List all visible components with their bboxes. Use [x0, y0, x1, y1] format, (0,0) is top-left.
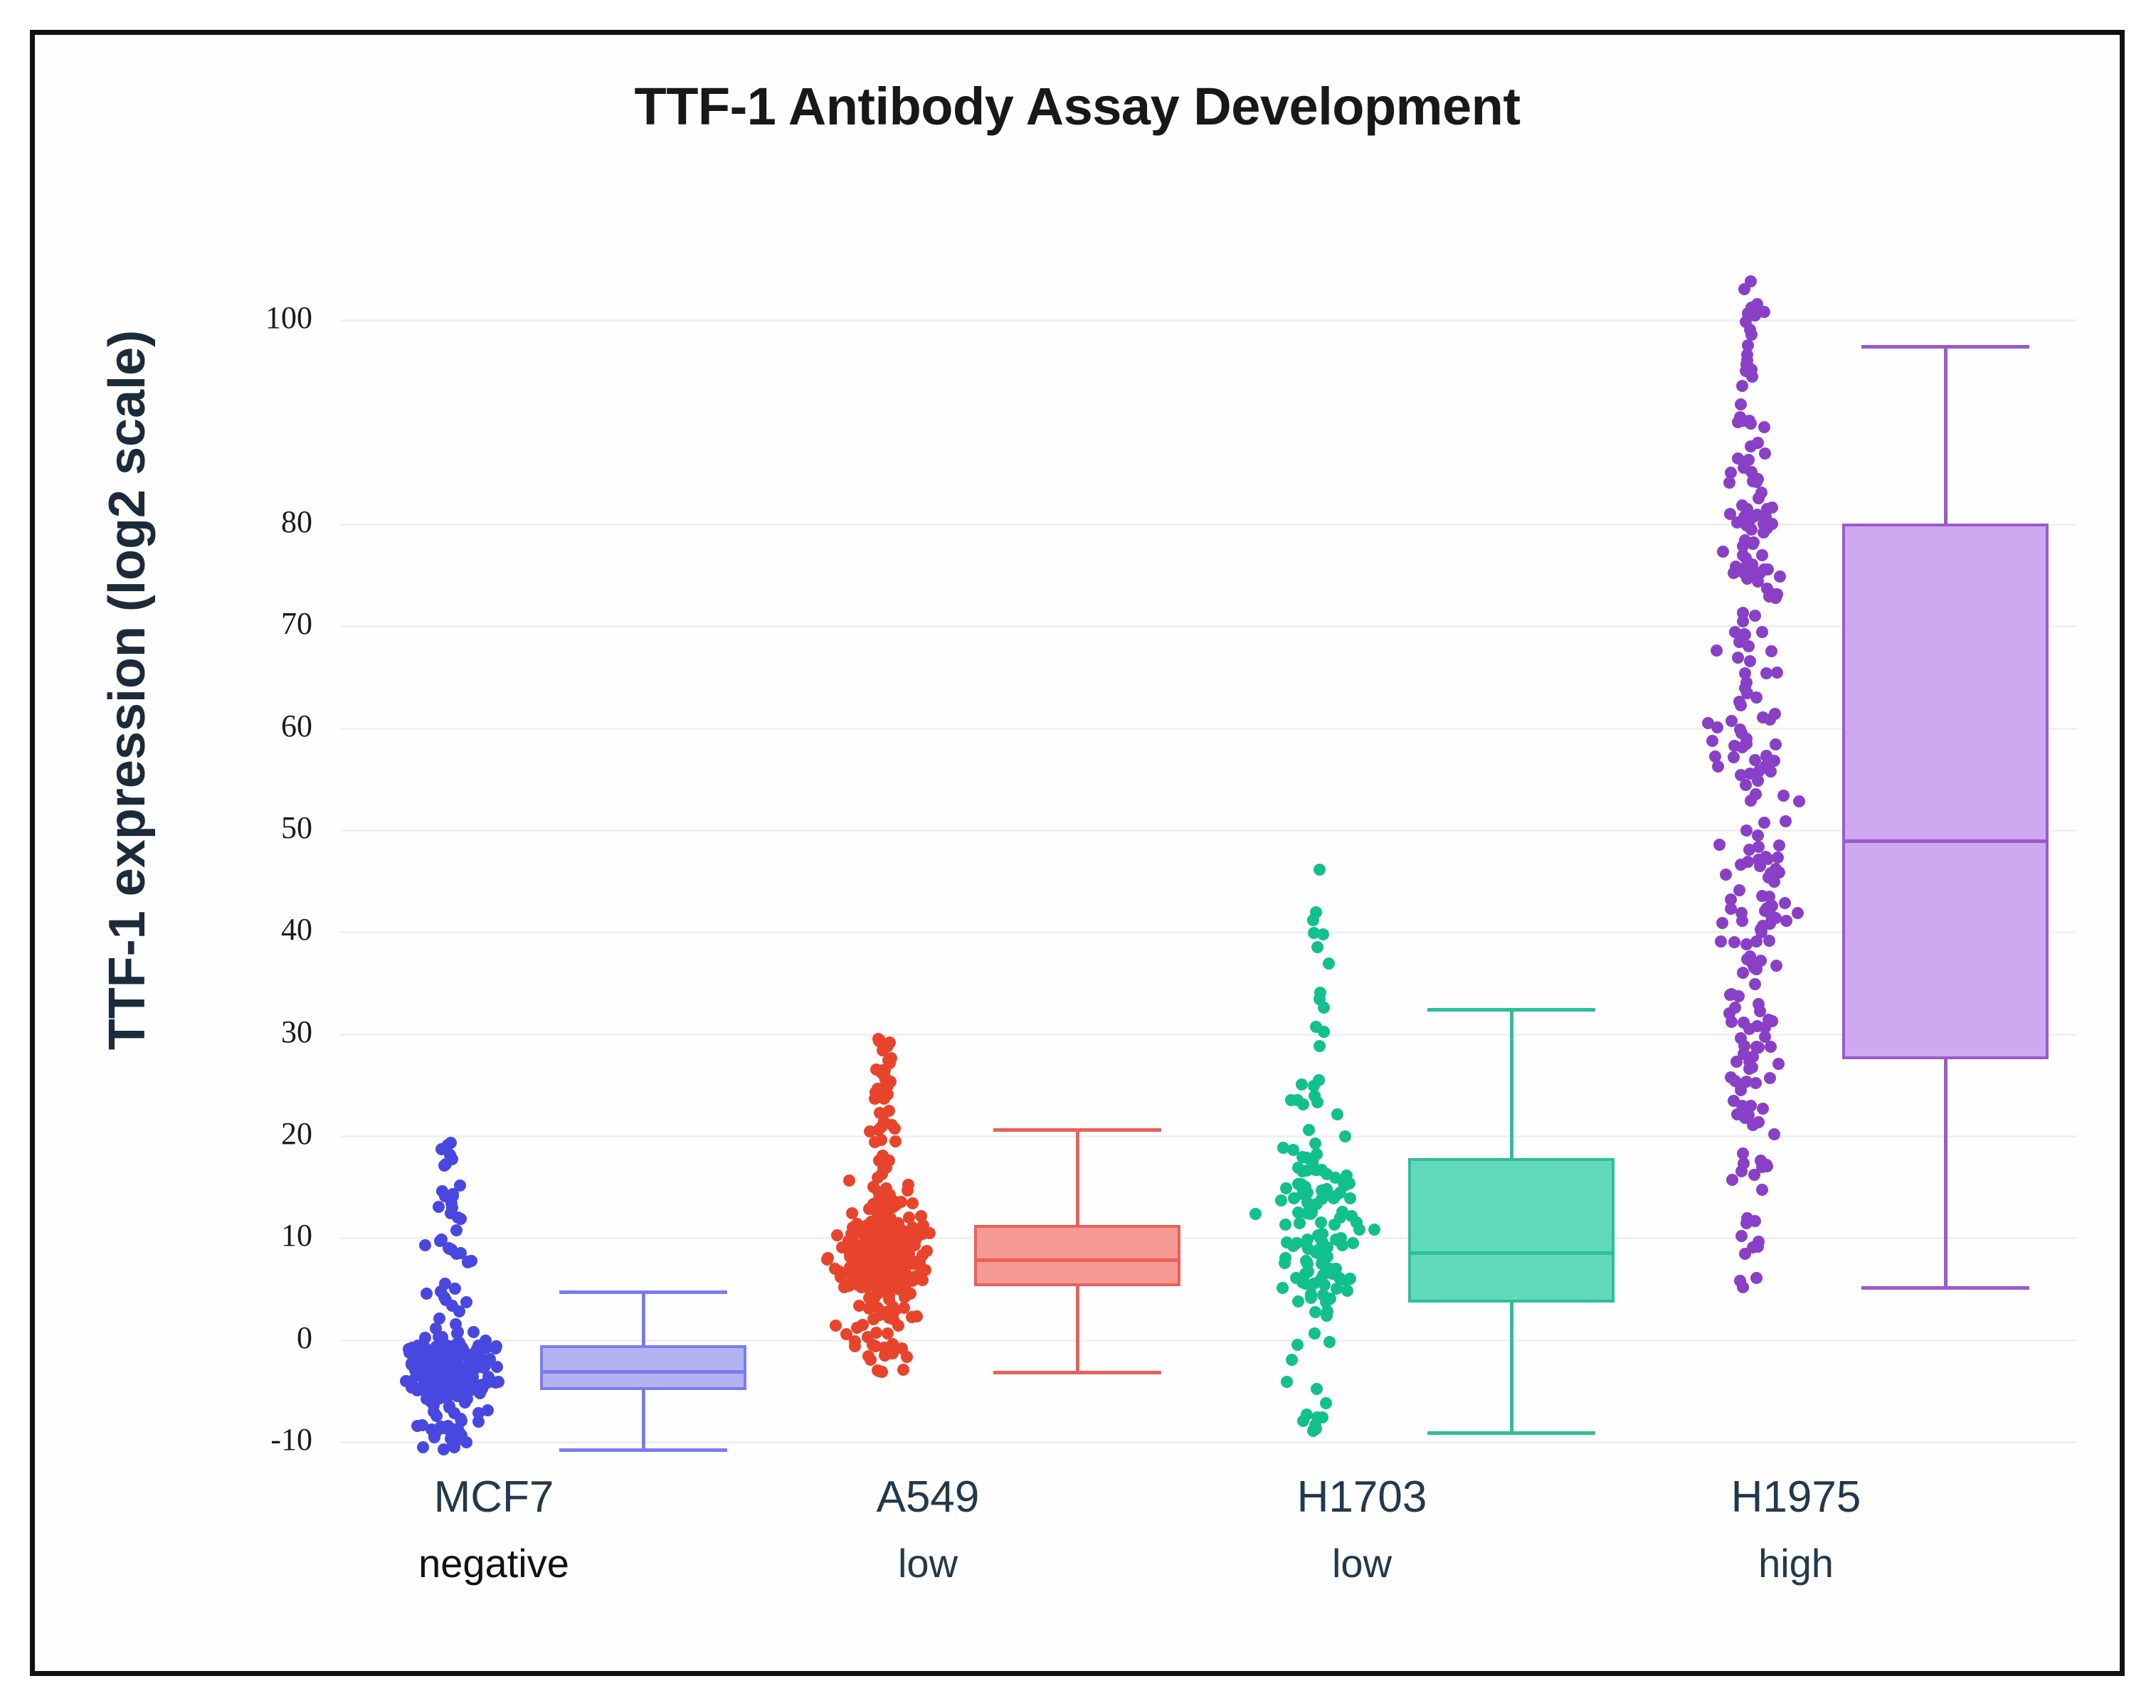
data-point	[1314, 864, 1326, 876]
data-point	[852, 1267, 864, 1279]
data-point	[838, 1281, 850, 1293]
data-point	[1759, 447, 1771, 460]
data-point	[1281, 1236, 1293, 1248]
data-point	[1288, 1192, 1300, 1204]
data-point	[430, 1322, 442, 1335]
data-point	[1728, 1095, 1740, 1107]
data-point	[426, 1380, 438, 1392]
whisker-cap-upper	[559, 1290, 727, 1294]
data-point	[439, 1278, 451, 1290]
chart-frame: TTF-1 Antibody Assay Development TTF-1 e…	[30, 30, 2125, 1676]
data-point	[1758, 817, 1770, 829]
data-point	[1320, 1397, 1332, 1409]
plot-area: 10080706050403020100-10	[341, 248, 2077, 1472]
data-point	[1314, 993, 1326, 1005]
data-point	[872, 1083, 884, 1095]
whisker-cap-lower	[993, 1371, 1161, 1374]
data-point	[490, 1342, 502, 1354]
data-point	[460, 1296, 472, 1308]
data-point	[1733, 636, 1745, 648]
data-point	[899, 1291, 911, 1303]
x-category-name: H1703	[1177, 1472, 1547, 1522]
data-point	[1328, 1219, 1341, 1231]
data-point	[412, 1383, 424, 1395]
data-point	[1772, 1058, 1785, 1070]
data-point	[467, 1379, 479, 1391]
data-point	[1752, 1241, 1764, 1253]
data-point	[1321, 1183, 1333, 1195]
data-point	[1737, 967, 1749, 979]
data-point	[1307, 914, 1319, 926]
data-point	[417, 1441, 429, 1453]
data-point	[1353, 1224, 1365, 1236]
whisker-cap-upper	[993, 1128, 1161, 1132]
data-point	[1771, 667, 1783, 679]
data-point	[1344, 1192, 1356, 1204]
data-point	[1291, 1339, 1304, 1351]
data-point	[1745, 440, 1757, 452]
data-point	[1311, 1411, 1323, 1423]
data-point	[1793, 795, 1805, 807]
data-point	[1740, 779, 1752, 791]
data-point	[445, 1243, 458, 1256]
x-category-mcf7: MCF7negative	[309, 1472, 679, 1587]
data-point	[1745, 466, 1758, 478]
data-point	[1300, 1255, 1312, 1267]
whisker-cap-lower	[1861, 1286, 2029, 1290]
data-point	[870, 1327, 882, 1339]
data-point	[1756, 549, 1768, 561]
median-line	[1408, 1251, 1615, 1255]
whisker-cap-lower	[559, 1448, 727, 1452]
data-point	[829, 1263, 841, 1275]
y-tick-label: 60	[177, 708, 312, 744]
y-tick-label: 100	[177, 299, 312, 336]
data-point	[1746, 371, 1758, 383]
x-category-h1703: H1703low	[1177, 1472, 1547, 1587]
data-point	[1341, 1285, 1353, 1297]
data-point	[1292, 1206, 1304, 1219]
y-tick-label: 10	[177, 1217, 312, 1253]
data-point	[1711, 645, 1723, 657]
data-point	[445, 1371, 458, 1383]
data-point	[896, 1250, 908, 1262]
y-tick-label: 80	[177, 504, 312, 540]
data-point	[1706, 735, 1718, 747]
data-point	[1728, 751, 1740, 763]
data-point	[1745, 275, 1757, 287]
data-point	[870, 1063, 882, 1076]
data-point	[1315, 1216, 1327, 1229]
data-point	[1275, 1194, 1287, 1206]
data-point	[921, 1245, 933, 1257]
data-point	[1335, 1232, 1347, 1244]
data-point	[1766, 900, 1778, 912]
data-point	[1756, 1184, 1768, 1196]
x-category-name: MCF7	[309, 1472, 679, 1522]
data-point	[450, 1224, 463, 1236]
data-point	[911, 1310, 923, 1322]
y-axis-label: TTF-1 expression (log2 scale)	[98, 263, 157, 1117]
data-point	[1740, 824, 1753, 837]
data-point	[1712, 760, 1724, 773]
data-point	[1309, 1327, 1321, 1340]
data-point	[1750, 1272, 1763, 1284]
data-point	[1729, 1002, 1741, 1014]
data-point	[1317, 928, 1329, 940]
y-tick-label: 0	[177, 1320, 312, 1356]
box-group-h1703[interactable]	[1216, 248, 1650, 1472]
data-point	[1757, 1103, 1769, 1115]
data-point	[439, 1190, 451, 1202]
data-point	[1303, 1124, 1315, 1136]
x-category-name: H1975	[1611, 1472, 1981, 1522]
data-point	[1314, 1040, 1326, 1052]
data-point	[1321, 1310, 1333, 1322]
data-point	[1292, 1295, 1304, 1307]
data-point	[889, 1135, 902, 1147]
data-point	[1279, 1219, 1291, 1231]
data-point	[853, 1300, 865, 1312]
data-point	[430, 1410, 443, 1422]
box-group-a549[interactable]	[782, 248, 1216, 1472]
data-point	[1713, 839, 1726, 851]
data-point	[1313, 1074, 1325, 1086]
data-point	[1743, 1063, 1755, 1075]
y-tick-label: 40	[177, 911, 312, 948]
data-point	[902, 1184, 914, 1197]
data-point	[1735, 398, 1747, 410]
data-point	[867, 1313, 879, 1325]
data-point	[440, 1142, 453, 1155]
data-point	[1765, 645, 1777, 657]
data-point	[1740, 738, 1753, 750]
data-point	[1779, 897, 1791, 909]
data-point	[1724, 508, 1736, 520]
data-point	[1726, 1174, 1738, 1186]
data-point	[419, 1332, 431, 1344]
data-point	[1742, 856, 1754, 868]
data-point	[1728, 740, 1740, 752]
x-category-sublabel: negative	[309, 1541, 679, 1586]
data-point	[1752, 775, 1764, 787]
data-point	[473, 1340, 485, 1352]
data-point	[1770, 738, 1782, 750]
y-tick-label: 30	[177, 1014, 312, 1050]
data-point	[1761, 1160, 1773, 1172]
data-point	[1741, 953, 1753, 965]
data-point	[1728, 936, 1740, 948]
data-point	[1715, 935, 1727, 948]
data-point	[1309, 1306, 1321, 1318]
data-point	[1780, 815, 1792, 827]
data-point	[1279, 1257, 1291, 1269]
data-point	[1735, 1165, 1748, 1177]
data-point	[463, 1352, 475, 1364]
data-point	[1777, 790, 1790, 802]
chart-title: TTF-1 Antibody Assay Development	[35, 76, 2120, 137]
data-point	[1317, 1269, 1329, 1281]
data-point	[831, 1229, 843, 1241]
data-point	[406, 1345, 418, 1357]
data-point	[467, 1326, 480, 1338]
data-point	[446, 1300, 458, 1312]
data-point	[883, 1105, 895, 1117]
data-point	[849, 1335, 861, 1347]
x-category-sublabel: high	[1611, 1541, 1981, 1586]
data-point	[419, 1239, 431, 1251]
data-point	[1749, 978, 1761, 990]
data-point	[884, 1036, 896, 1049]
data-point	[455, 1415, 467, 1427]
data-point	[1281, 1376, 1293, 1388]
data-point	[449, 1283, 461, 1295]
data-point	[1310, 1423, 1322, 1435]
x-category-sublabel: low	[1177, 1541, 1547, 1586]
data-point	[1745, 795, 1757, 807]
data-point	[897, 1364, 909, 1376]
data-point	[886, 1216, 898, 1229]
y-tick-label: 70	[177, 605, 312, 642]
data-point	[1301, 1165, 1313, 1177]
median-line	[1842, 839, 2049, 843]
data-point	[421, 1288, 433, 1300]
data-point	[907, 1275, 919, 1287]
data-point	[1774, 571, 1786, 583]
data-point	[462, 1256, 474, 1268]
data-point	[1743, 844, 1755, 856]
data-point	[887, 1313, 899, 1325]
data-point	[1323, 1336, 1336, 1348]
data-point	[878, 1342, 890, 1354]
data-point	[851, 1322, 863, 1334]
data-point	[870, 1280, 882, 1292]
data-point	[1756, 626, 1768, 638]
y-tick-label: 50	[177, 810, 312, 846]
data-point	[1249, 1208, 1262, 1220]
data-point	[1311, 1383, 1323, 1395]
median-line	[974, 1258, 1180, 1262]
data-point	[1765, 1041, 1777, 1053]
data-point	[1770, 960, 1782, 972]
data-point	[887, 1300, 899, 1312]
data-point	[1773, 839, 1785, 852]
data-point	[1296, 1078, 1308, 1091]
data-point	[846, 1207, 858, 1219]
data-point	[1744, 655, 1756, 667]
box-iqr[interactable]	[1408, 1158, 1615, 1303]
data-point	[1717, 546, 1729, 558]
data-point	[1749, 610, 1761, 622]
data-point	[1347, 1237, 1359, 1249]
data-point	[1739, 1248, 1751, 1260]
data-point	[1738, 1048, 1750, 1060]
box-iqr[interactable]	[974, 1225, 1180, 1286]
data-point	[1758, 421, 1770, 433]
x-category-name: A549	[743, 1472, 1113, 1522]
data-point	[1760, 511, 1772, 523]
data-point	[1747, 538, 1759, 550]
data-point	[887, 1264, 899, 1276]
data-point	[448, 1441, 460, 1453]
data-point	[1742, 339, 1754, 351]
data-point	[915, 1210, 927, 1222]
data-point	[872, 1364, 884, 1377]
data-point	[1725, 1071, 1737, 1083]
data-point	[907, 1197, 919, 1209]
data-point	[1770, 592, 1782, 604]
data-point	[1755, 926, 1767, 938]
data-point	[1766, 1015, 1778, 1027]
data-point	[1743, 1023, 1755, 1035]
median-line	[540, 1370, 746, 1374]
data-point	[876, 1191, 888, 1203]
x-category-a549: A549low	[743, 1472, 1113, 1587]
data-point	[1755, 487, 1767, 499]
data-point	[433, 1201, 445, 1213]
data-point	[1740, 938, 1753, 950]
data-point	[1733, 696, 1745, 708]
data-point	[1339, 1130, 1351, 1142]
data-point	[1333, 1272, 1346, 1284]
box-iqr[interactable]	[1842, 524, 2049, 1059]
data-point	[1316, 1236, 1328, 1248]
data-point	[1368, 1224, 1380, 1236]
data-point	[877, 1150, 889, 1162]
data-point	[872, 1033, 884, 1045]
data-point	[455, 1213, 467, 1225]
x-category-h1975: H1975high	[1611, 1472, 1981, 1587]
data-point	[1736, 499, 1748, 511]
data-point	[1305, 1288, 1317, 1300]
data-point	[433, 1351, 445, 1363]
data-point	[1749, 1215, 1761, 1227]
x-category-sublabel: low	[743, 1541, 1113, 1586]
data-point	[872, 1124, 884, 1136]
data-point	[1792, 907, 1804, 919]
data-point	[1758, 563, 1770, 575]
data-point	[1301, 1187, 1314, 1199]
data-point	[1323, 958, 1335, 970]
data-point	[1734, 1275, 1746, 1287]
data-point	[1752, 829, 1764, 842]
data-point	[1277, 1282, 1289, 1294]
data-point	[1735, 769, 1747, 781]
data-point	[1755, 955, 1767, 967]
data-point	[843, 1174, 855, 1187]
box-iqr[interactable]	[540, 1345, 746, 1390]
data-point	[1716, 917, 1728, 929]
data-point	[1294, 1217, 1306, 1229]
data-point	[1733, 884, 1745, 896]
data-point	[1736, 380, 1748, 392]
data-point	[1770, 912, 1782, 924]
data-point	[1286, 1354, 1298, 1366]
data-point	[1735, 1230, 1748, 1242]
data-point	[454, 1179, 466, 1192]
data-point	[491, 1361, 503, 1373]
data-point	[889, 1123, 901, 1135]
data-point	[869, 1246, 881, 1258]
data-point	[472, 1407, 485, 1419]
data-point	[1331, 1283, 1343, 1295]
data-point	[1753, 1041, 1765, 1054]
box-group-mcf7[interactable]	[348, 248, 782, 1472]
data-point	[1769, 708, 1781, 720]
data-point	[1764, 1072, 1776, 1084]
data-point	[445, 1341, 458, 1353]
data-point	[1720, 869, 1732, 881]
data-point	[884, 1057, 896, 1069]
data-point	[911, 1256, 923, 1268]
data-point	[1311, 941, 1323, 953]
data-point	[901, 1351, 913, 1363]
data-point	[1737, 1147, 1749, 1160]
data-point	[1306, 1206, 1318, 1219]
whisker-cap-upper	[1861, 345, 2029, 349]
data-point	[830, 1320, 842, 1332]
data-point	[1726, 1016, 1738, 1028]
data-point	[1331, 1108, 1343, 1120]
data-point	[1753, 998, 1765, 1010]
data-point	[1780, 915, 1792, 927]
y-tick-label: -10	[177, 1421, 312, 1458]
data-point	[1732, 652, 1744, 664]
box-group-h1975[interactable]	[1650, 248, 2084, 1472]
y-tick-label: 20	[177, 1115, 312, 1152]
whisker-cap-upper	[1427, 1008, 1595, 1012]
chart-page: TTF-1 Antibody Assay Development TTF-1 e…	[0, 0, 2156, 1708]
data-point	[1297, 1415, 1309, 1427]
data-point	[1737, 607, 1749, 619]
data-point	[924, 1227, 936, 1239]
data-point	[887, 1195, 899, 1207]
whisker-cap-lower	[1427, 1431, 1595, 1435]
data-point	[1768, 1128, 1780, 1140]
data-point	[1731, 1108, 1743, 1120]
data-point	[1726, 715, 1738, 727]
data-point	[438, 1160, 450, 1172]
data-point	[884, 1230, 896, 1242]
data-point	[1723, 477, 1735, 489]
